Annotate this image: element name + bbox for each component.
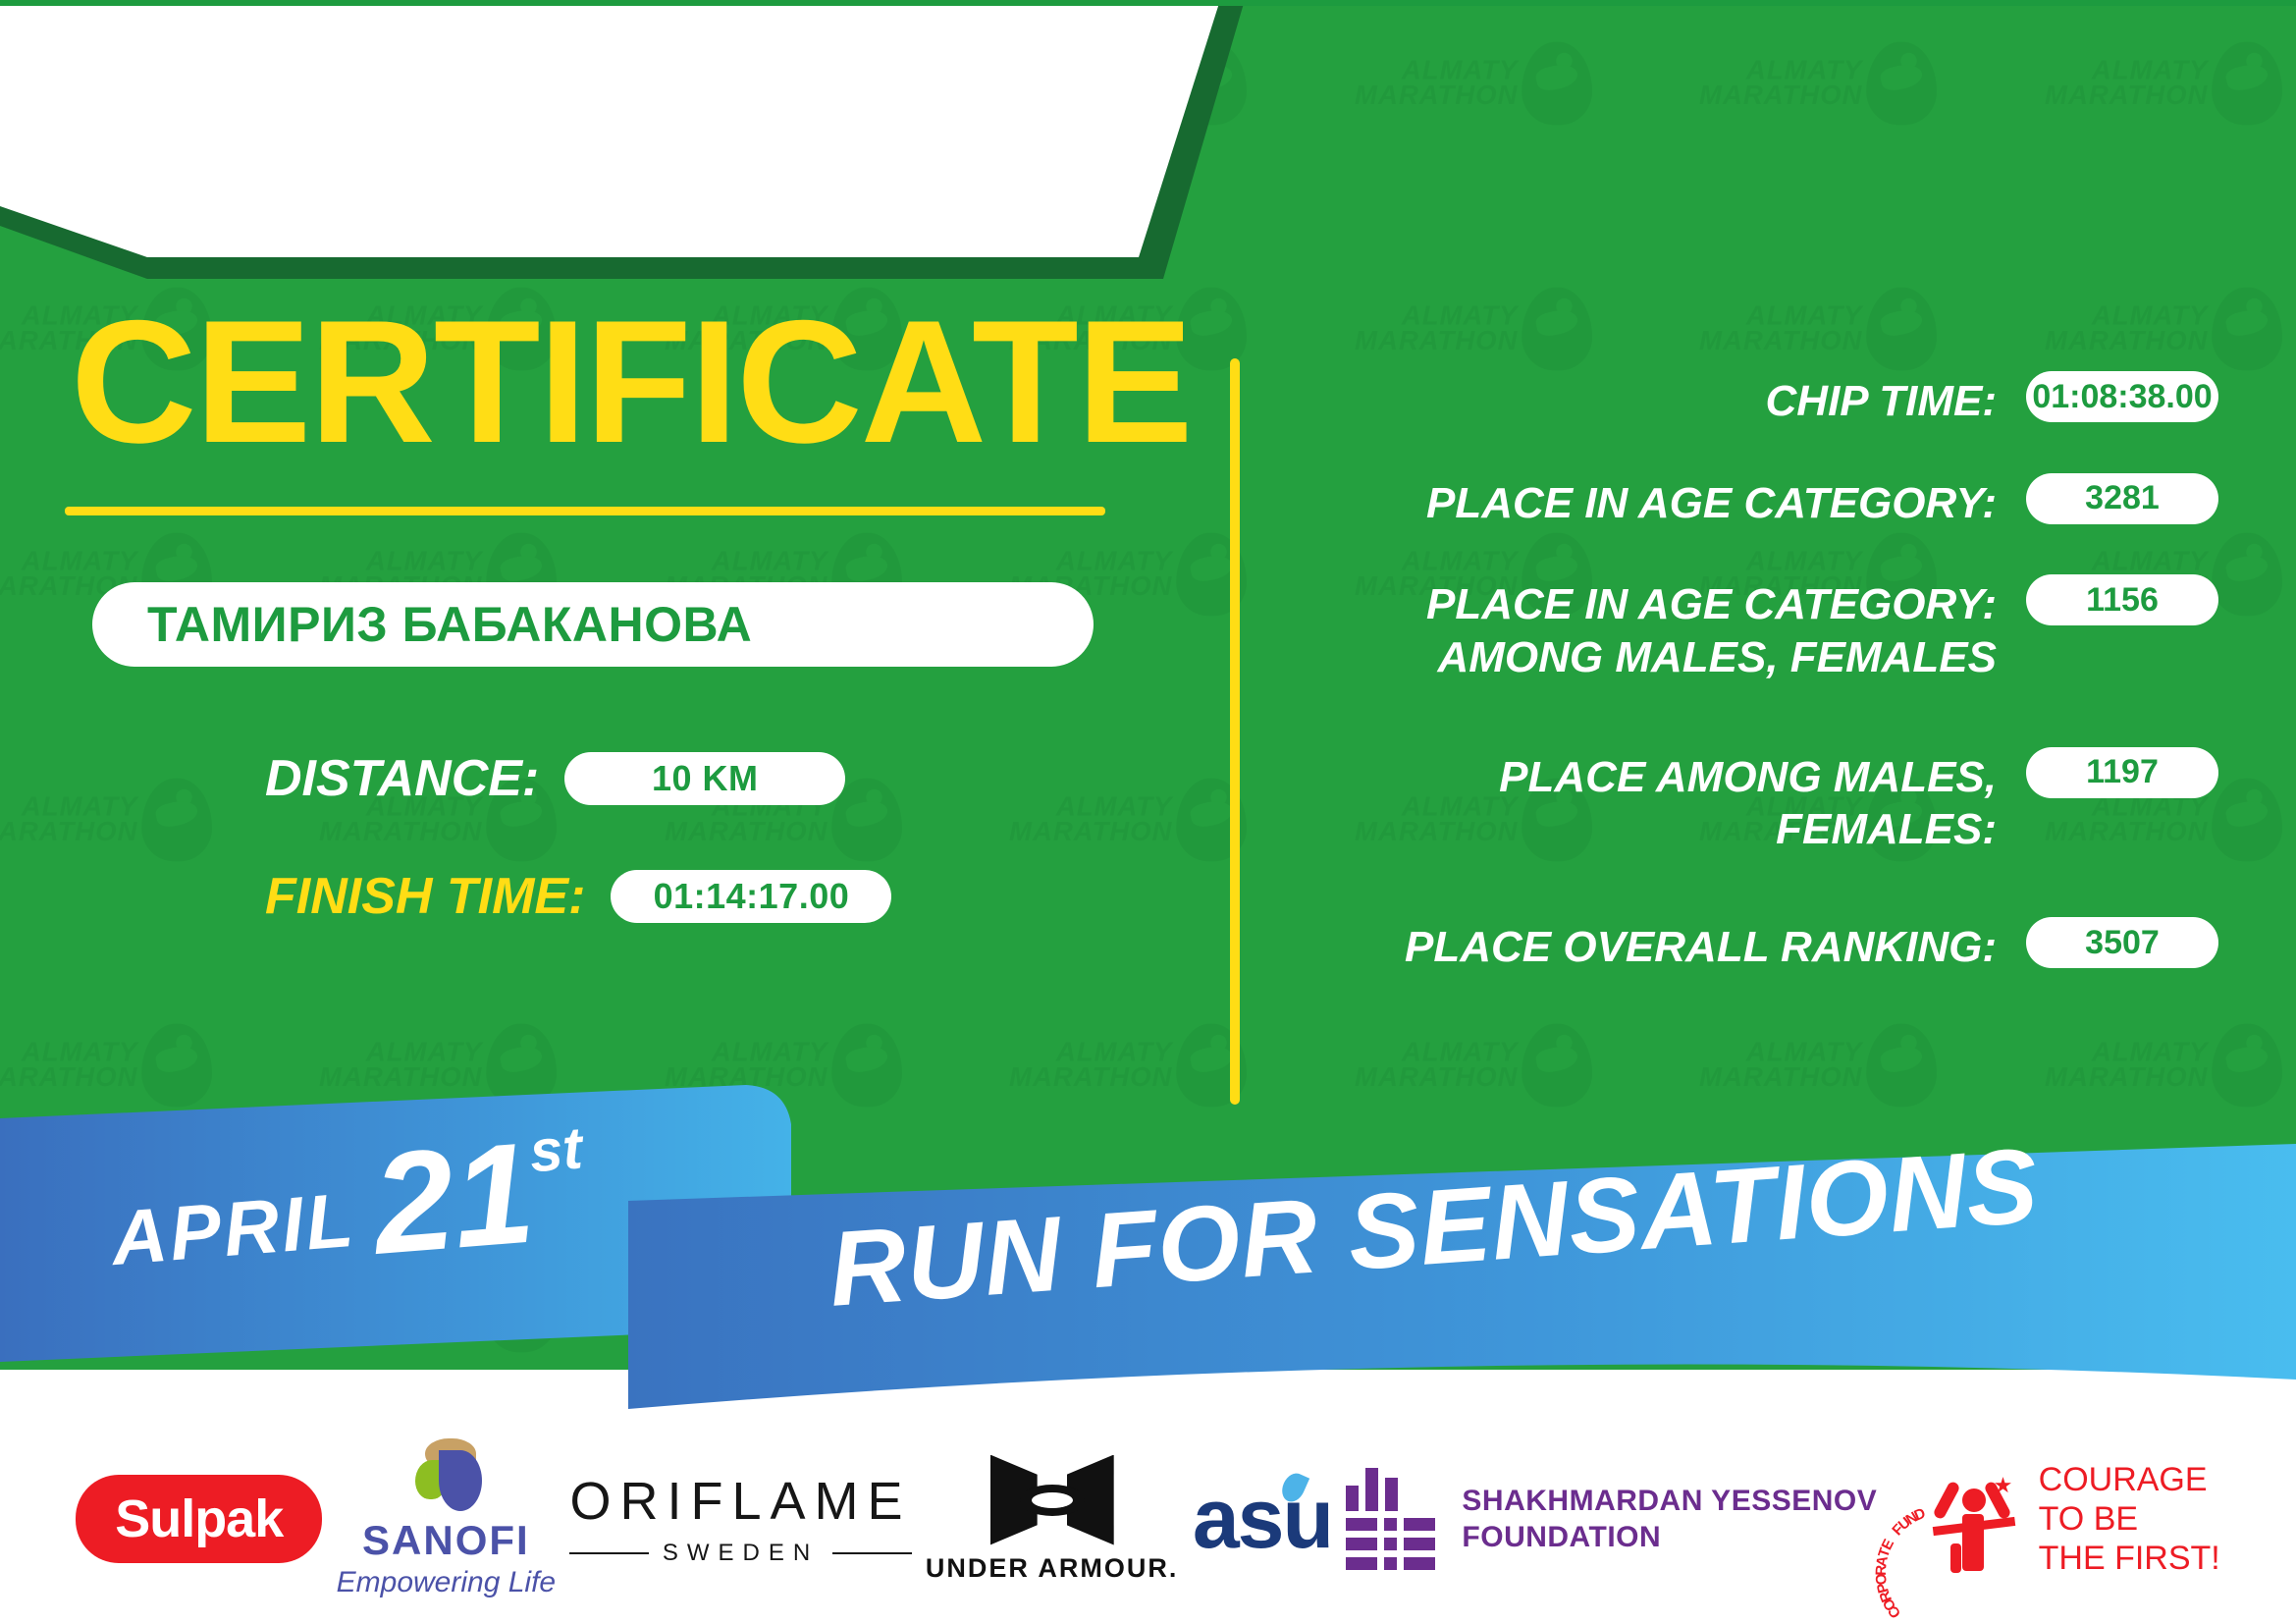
watermark-text: ALMATYMARATHON bbox=[1355, 1040, 1518, 1091]
sponsor-bar: Sulpak SANOFI Empowering Life ORIFLAME S… bbox=[0, 1414, 2296, 1624]
distance-label: DISTANCE: bbox=[265, 749, 539, 808]
certificate-left-column: CERTIFICATE ТАМИРИЗ БАБАКАНОВА DISTANCE:… bbox=[0, 295, 1217, 926]
yessenov-wordmark: SHAKHMARDAN YESSENOV FOUNDATION bbox=[1462, 1483, 1877, 1556]
header-plate bbox=[0, 0, 1245, 279]
participant-name: ТАМИРИЗ БАБАКАНОВА bbox=[147, 596, 752, 653]
courage-line-1: COURAGE bbox=[2039, 1460, 2220, 1499]
courage-fund-wordmark: COURAGE TO BE THE FIRST! bbox=[2039, 1460, 2220, 1578]
sponsor-courage-fund: CORPORATE FUND ★ COURAGE TO BE THE FIRST… bbox=[1892, 1455, 2220, 1583]
stat-row-place-gender: PLACE AMONG MALES, FEMALES: 1197 bbox=[1276, 747, 2218, 856]
watermark-text: ALMATYMARATHON bbox=[0, 1040, 137, 1091]
oriflame-rule-left bbox=[569, 1552, 648, 1554]
chip-time-label: CHIP TIME: bbox=[1276, 371, 1997, 428]
watermark-runner-drop-icon bbox=[1866, 288, 1937, 371]
stat-row-place-overall: PLACE OVERALL RANKING: 3507 bbox=[1276, 917, 2218, 974]
sponsor-asu: asu bbox=[1193, 1471, 1332, 1568]
stat-row-chip-time: CHIP TIME: 01:08:38.00 bbox=[1276, 371, 2218, 428]
oriflame-rule-right bbox=[832, 1552, 911, 1554]
courage-fund-icon: CORPORATE FUND ★ bbox=[1892, 1455, 2019, 1583]
place-overall-value: 3507 bbox=[2026, 917, 2218, 968]
top-accent-rule bbox=[0, 0, 2296, 6]
finish-time-label: FINISH TIME: bbox=[265, 867, 585, 926]
yessenov-line-1: SHAKHMARDAN YESSENOV bbox=[1462, 1483, 1877, 1520]
place-age-category-value: 3281 bbox=[2026, 473, 2218, 524]
watermark-runner-drop-icon bbox=[2212, 288, 2282, 371]
under-armour-icon bbox=[990, 1455, 1114, 1545]
oriflame-tagline: SWEDEN bbox=[663, 1540, 819, 1567]
event-day: 21 bbox=[369, 1127, 538, 1269]
place-age-category-gender-value: 1156 bbox=[2026, 574, 2218, 625]
header-white-plate bbox=[0, 0, 1245, 279]
watermark-text: ALMATYMARATHON bbox=[1699, 1040, 1862, 1091]
place-age-category-label: PLACE IN AGE CATEGORY: bbox=[1276, 473, 1997, 530]
watermark-text: ALMATYMARATHON bbox=[1355, 303, 1518, 354]
watermark-text: ALMATYMARATHON bbox=[2045, 1040, 2208, 1091]
stat-row-place-age-category: PLACE IN AGE CATEGORY: 3281 bbox=[1276, 473, 2218, 530]
sponsor-sulpak: Sulpak bbox=[76, 1475, 322, 1563]
sponsor-yessenov-foundation: SHAKHMARDAN YESSENOV FOUNDATION bbox=[1346, 1468, 1877, 1570]
courage-line-2: TO BE bbox=[2039, 1499, 2220, 1539]
sponsor-sanofi: SANOFI Empowering Life bbox=[337, 1438, 556, 1599]
finish-time-row: FINISH TIME: 01:14:17.00 bbox=[265, 867, 1217, 926]
event-day-ordinal: st bbox=[527, 1113, 585, 1185]
place-overall-label: PLACE OVERALL RANKING: bbox=[1276, 917, 1997, 974]
watermark-text: ALMATYMARATHON bbox=[1009, 1040, 1172, 1091]
place-gender-value: 1197 bbox=[2026, 747, 2218, 798]
sponsor-oriflame: ORIFLAME SWEDEN bbox=[569, 1471, 911, 1567]
yessenov-bars-icon bbox=[1346, 1468, 1436, 1570]
finish-time-value: 01:14:17.00 bbox=[611, 870, 891, 923]
vertical-divider bbox=[1230, 358, 1240, 1105]
distance-row: DISTANCE: 10 KM bbox=[265, 749, 1217, 808]
asu-wordmark: asu bbox=[1193, 1471, 1332, 1568]
yessenov-line-2: FOUNDATION bbox=[1462, 1519, 1877, 1556]
title-divider bbox=[65, 507, 1105, 515]
sanofi-wordmark: SANOFI bbox=[362, 1517, 530, 1564]
label-line-2: FEMALES: bbox=[1276, 803, 1997, 856]
sanofi-tagline: Empowering Life bbox=[337, 1566, 556, 1599]
watermark-text: ALMATYMARATHON bbox=[319, 1040, 482, 1091]
place-age-category-gender-label: PLACE IN AGE CATEGORY: AMONG MALES, FEMA… bbox=[1276, 574, 1997, 683]
stat-row-place-age-category-gender: PLACE IN AGE CATEGORY: AMONG MALES, FEMA… bbox=[1276, 574, 2218, 683]
certificate-page: ALMATYMARATHONALMATYMARATHONALMATYMARATH… bbox=[0, 0, 2296, 1624]
oriflame-wordmark: ORIFLAME bbox=[569, 1471, 911, 1532]
watermark-runner-drop-icon bbox=[1522, 288, 1592, 371]
watermark-text: ALMATYMARATHON bbox=[2045, 303, 2208, 354]
stats-column: CHIP TIME: 01:08:38.00 PLACE IN AGE CATE… bbox=[1276, 371, 2218, 1019]
sponsor-under-armour: UNDER ARMOUR. bbox=[926, 1455, 1179, 1584]
under-armour-wordmark: UNDER ARMOUR. bbox=[926, 1553, 1179, 1584]
sulpak-wordmark: Sulpak bbox=[76, 1475, 322, 1563]
watermark-text: ALMATYMARATHON bbox=[1699, 303, 1862, 354]
watermark-runner-drop-icon bbox=[2212, 779, 2282, 862]
distance-value: 10 KM bbox=[564, 752, 845, 805]
event-month: APRIL bbox=[108, 1175, 358, 1283]
label-line-1: PLACE IN AGE CATEGORY: bbox=[1276, 578, 1997, 631]
watermark-text: ALMATYMARATHON bbox=[665, 1040, 828, 1091]
chip-time-value: 01:08:38.00 bbox=[2026, 371, 2218, 422]
place-gender-label: PLACE AMONG MALES, FEMALES: bbox=[1276, 747, 1997, 856]
sanofi-bird-icon bbox=[409, 1438, 482, 1515]
label-line-1: PLACE AMONG MALES, bbox=[1276, 751, 1997, 804]
watermark-runner-drop-icon bbox=[2212, 533, 2282, 617]
page-title: CERTIFICATE bbox=[71, 295, 1217, 469]
participant-name-field: ТАМИРИЗ БАБАКАНОВА bbox=[92, 582, 1094, 667]
label-line-2: AMONG MALES, FEMALES bbox=[1276, 631, 1997, 684]
courage-line-3: THE FIRST! bbox=[2039, 1539, 2220, 1578]
